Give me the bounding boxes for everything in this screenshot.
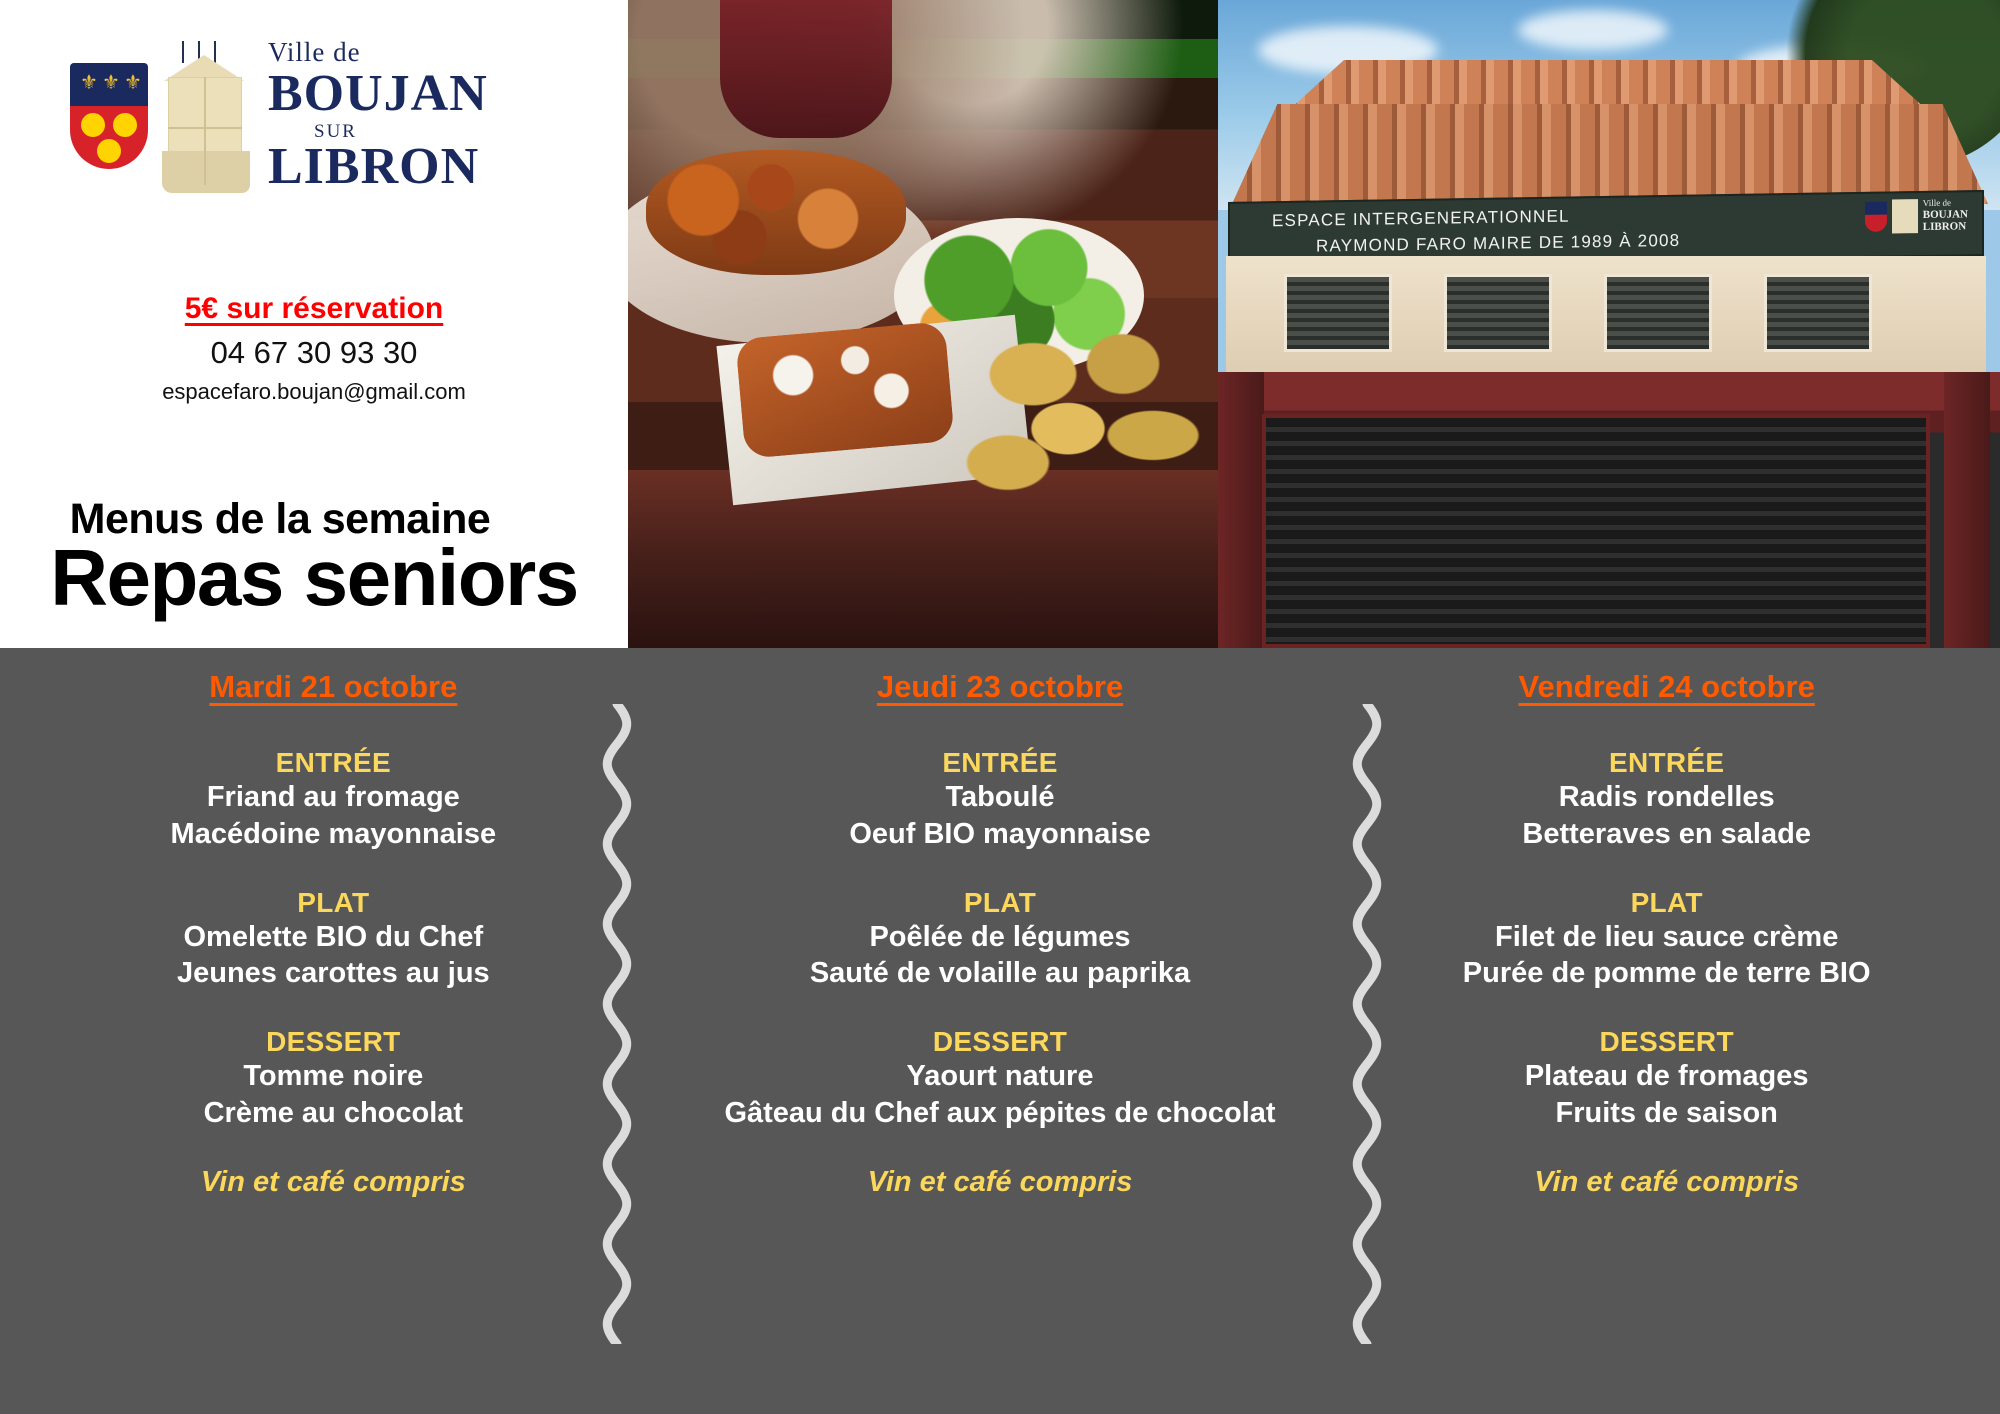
coat-of-arms-icon: ⚜ ⚜ ⚜ xyxy=(70,63,148,169)
dish-item: Betteraves en salade xyxy=(1333,816,2000,853)
dish-item: Poêlée de légumes xyxy=(667,919,1334,956)
menu-column-mardi: Mardi 21 octobre ENTRÉE Friand au fromag… xyxy=(0,648,667,1414)
dish-item: Jeunes carottes au jus xyxy=(0,955,667,992)
brand-column: ⚜ ⚜ ⚜ Ville d xyxy=(0,0,628,648)
dish-item: Macédoine mayonnaise xyxy=(0,816,667,853)
course-plat-jeudi: PLAT Poêlée de légumes Sauté de volaille… xyxy=(667,887,1334,993)
course-label: ENTRÉE xyxy=(1333,747,2000,779)
reservation-email[interactable]: espacefaro.boujan@gmail.com xyxy=(0,379,628,405)
included-note-vendredi: Vin et café compris xyxy=(1333,1166,2000,1199)
sign-logo-line-3: LIBRON xyxy=(1923,220,1968,233)
dish-item: Plateau de fromages xyxy=(1333,1058,2000,1095)
sign-crest-icon xyxy=(1865,202,1887,232)
garage-door xyxy=(1262,414,1930,648)
course-label: ENTRÉE xyxy=(667,747,1334,779)
course-label: PLAT xyxy=(667,887,1334,919)
day-title-jeudi: Jeudi 23 octobre xyxy=(667,660,1334,705)
ville-de-boujan-logo: ⚜ ⚜ ⚜ Ville d xyxy=(70,26,490,206)
poster: ⚜ ⚜ ⚜ Ville d xyxy=(0,0,2000,1414)
sign-line-1: ESPACE INTERGENERATIONNEL xyxy=(1272,207,1570,232)
course-plat-vendredi: PLAT Filet de lieu sauce crème Purée de … xyxy=(1333,887,2000,993)
day-title-mardi: Mardi 21 octobre xyxy=(0,660,667,705)
menu-section: Mardi 21 octobre ENTRÉE Friand au fromag… xyxy=(0,648,2000,1414)
dish-item: Crème au chocolat xyxy=(0,1095,667,1132)
course-entree-vendredi: ENTRÉE Radis rondelles Betteraves en sal… xyxy=(1333,747,2000,853)
reservation-block: 5€ sur réservation 04 67 30 93 30 espace… xyxy=(0,292,628,405)
course-entree-mardi: ENTRÉE Friand au fromage Macédoine mayon… xyxy=(0,747,667,853)
dish-item: Taboulé xyxy=(667,779,1334,816)
dish-item: Yaourt nature xyxy=(667,1058,1334,1095)
course-dessert-vendredi: DESSERT Plateau de fromages Fruits de sa… xyxy=(1333,1026,2000,1132)
top-band: ⚜ ⚜ ⚜ Ville d xyxy=(0,0,2000,648)
sign-logo: Ville de BOUJAN LIBRON xyxy=(1865,198,1968,234)
course-label: DESSERT xyxy=(1333,1026,2000,1058)
included-note-mardi: Vin et café compris xyxy=(0,1166,667,1199)
potatoes-shape xyxy=(958,330,1208,500)
course-label: PLAT xyxy=(1333,887,2000,919)
course-dessert-mardi: DESSERT Tomme noire Crème au chocolat xyxy=(0,1026,667,1132)
dish-item: Tomme noire xyxy=(0,1058,667,1095)
dish-item: Filet de lieu sauce crème xyxy=(1333,919,2000,956)
dish-item: Sauté de volaille au paprika xyxy=(667,955,1334,992)
logo-line-libron: LIBRON xyxy=(268,141,488,193)
menu-columns: Mardi 21 octobre ENTRÉE Friand au fromag… xyxy=(0,648,2000,1414)
logo-line-ville: Ville de xyxy=(268,39,488,66)
dish-item: Radis rondelles xyxy=(1333,779,2000,816)
dish-item: Purée de pomme de terre BIO xyxy=(1333,955,2000,992)
reservation-phone[interactable]: 04 67 30 93 30 xyxy=(0,335,628,371)
building-photo: ESPACE INTERGENERATIONNEL RAYMOND FARO M… xyxy=(1218,0,2000,648)
menu-column-jeudi: Jeudi 23 octobre ENTRÉE Taboulé Oeuf BIO… xyxy=(667,648,1334,1414)
course-plat-mardi: PLAT Omelette BIO du Chef Jeunes carotte… xyxy=(0,887,667,993)
sign-tower-icon xyxy=(1892,199,1918,233)
course-dessert-jeudi: DESSERT Yaourt nature Gâteau du Chef aux… xyxy=(667,1026,1334,1132)
reservation-price: 5€ sur réservation xyxy=(0,292,628,326)
wine-glass-shape xyxy=(720,0,892,138)
dish-item: Gâteau du Chef aux pépites de chocolat xyxy=(667,1095,1334,1132)
course-label: DESSERT xyxy=(0,1026,667,1058)
menu-column-vendredi: Vendredi 24 octobre ENTRÉE Radis rondell… xyxy=(1333,648,2000,1414)
page-title: Repas seniors xyxy=(0,537,628,619)
sign-logo-line-2: BOUJAN xyxy=(1923,208,1968,221)
dish-item: Friand au fromage xyxy=(0,779,667,816)
dish-item: Omelette BIO du Chef xyxy=(0,919,667,956)
included-note-jeudi: Vin et café compris xyxy=(667,1166,1334,1199)
tiled-roof xyxy=(1232,104,1988,204)
day-title-vendredi: Vendredi 24 octobre xyxy=(1333,660,2000,705)
dish-item: Fruits de saison xyxy=(1333,1095,2000,1132)
course-label: ENTRÉE xyxy=(0,747,667,779)
logo-wordmark: Ville de BOUJAN SUR LIBRON xyxy=(268,39,488,193)
logo-line-boujan: BOUJAN xyxy=(268,68,488,120)
course-label: DESSERT xyxy=(667,1026,1334,1058)
bell-tower-icon xyxy=(142,41,262,191)
food-photo xyxy=(628,0,1218,648)
sign-line-2: RAYMOND FARO MAIRE DE 1989 À 2008 xyxy=(1316,231,1680,257)
dish-item: Oeuf BIO mayonnaise xyxy=(667,816,1334,853)
course-label: PLAT xyxy=(0,887,667,919)
course-entree-jeudi: ENTRÉE Taboulé Oeuf BIO mayonnaise xyxy=(667,747,1334,853)
sign-logo-text: Ville de BOUJAN LIBRON xyxy=(1923,198,1968,233)
